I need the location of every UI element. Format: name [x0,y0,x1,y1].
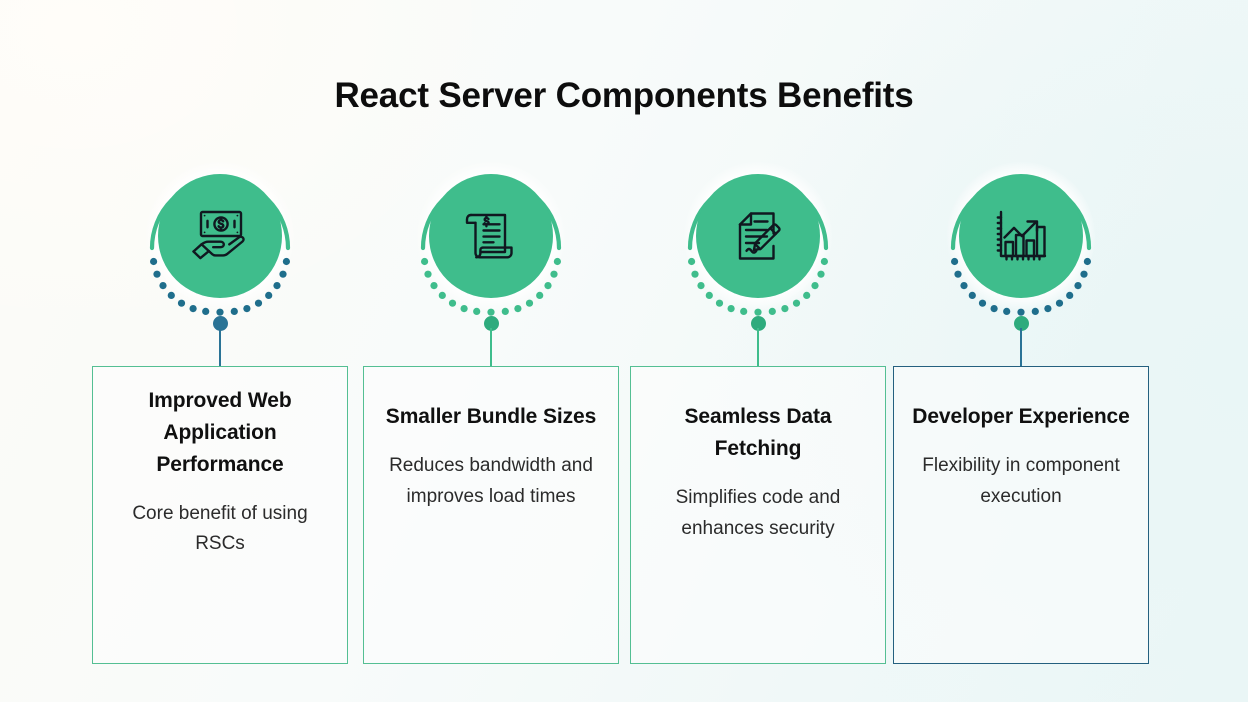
benefit-card-4[interactable]: Developer Experience Flexibility in comp… [893,366,1149,664]
connector-stem-2 [490,328,492,367]
benefit-card-description: Core benefit of using RSCs [107,499,333,561]
icon-badge-2 [403,148,579,324]
icon-badge-4 [933,148,1109,324]
growth-bar-chart-icon [959,174,1083,298]
benefit-card-description: Simplifies code and enhances security [645,483,871,545]
benefit-column-1: Improved Web Application Performance Cor… [92,0,348,702]
benefit-card-title: Smaller Bundle Sizes [378,385,604,433]
benefit-card-description: Reduces bandwidth and improves load time… [378,451,604,513]
benefit-column-4: Developer Experience Flexibility in comp… [893,0,1149,702]
benefit-card-title: Developer Experience [908,385,1134,433]
benefit-column-2: Smaller Bundle Sizes Reduces bandwidth a… [363,0,619,702]
benefit-card-title: Seamless Data Fetching [645,385,871,465]
connector-stem-3 [757,328,759,367]
icon-badge-3 [670,148,846,324]
money-in-hand-icon [158,174,282,298]
benefit-card-1[interactable]: Improved Web Application Performance Cor… [92,366,348,664]
benefit-card-2[interactable]: Smaller Bundle Sizes Reduces bandwidth a… [363,366,619,664]
benefit-card-title: Improved Web Application Performance [107,385,333,481]
connector-stem-1 [219,328,221,367]
dollar-receipt-icon [429,174,553,298]
signed-document-pencil-icon [696,174,820,298]
connector-stem-4 [1020,328,1022,367]
benefit-card-description: Flexibility in component execution [908,451,1134,513]
benefit-card-3[interactable]: Seamless Data Fetching Simplifies code a… [630,366,886,664]
icon-badge-1 [132,148,308,324]
benefit-column-3: Seamless Data Fetching Simplifies code a… [630,0,886,702]
infographic-canvas: React Server Components Benefits [0,0,1248,702]
